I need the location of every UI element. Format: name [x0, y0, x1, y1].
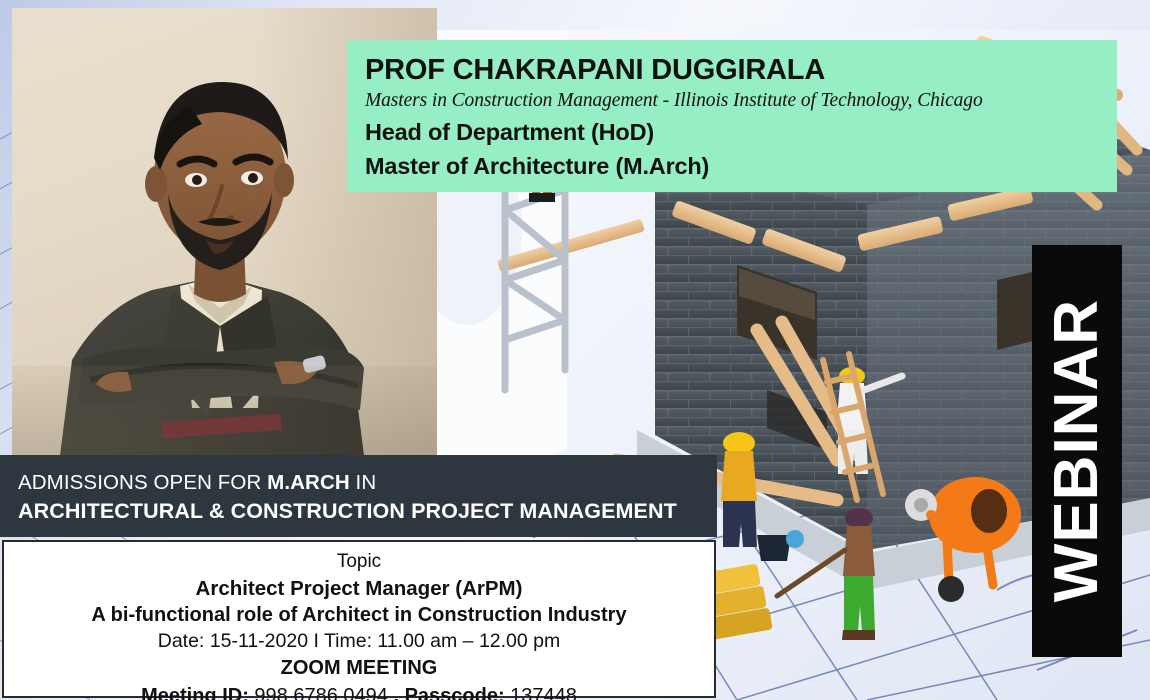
speaker-name: PROF CHAKRAPANI DUGGIRALA	[365, 54, 1117, 86]
speaker-role-hod: Head of Department (HoD)	[365, 117, 1117, 148]
admissions-program-code: M.ARCH	[267, 471, 350, 494]
schedule-line: Date: 15-11-2020 I Time: 11.00 am – 12.0…	[4, 628, 714, 655]
portrait-floor-shading	[12, 366, 437, 456]
speaker-role-march: Master of Architecture (M.Arch)	[365, 151, 1117, 182]
admissions-line-1: ADMISSIONS OPEN FOR M.ARCH IN	[18, 469, 717, 496]
admissions-prefix: ADMISSIONS OPEN FOR	[18, 471, 267, 494]
webinar-side-label: WEBINAR	[1046, 299, 1108, 602]
webinar-poster: PROF CHAKRAPANI DUGGIRALA Masters in Con…	[0, 0, 1150, 700]
webinar-side-banner: WEBINAR	[1032, 245, 1122, 657]
topic-subtitle: A bi-functional role of Architect in Con…	[4, 602, 714, 628]
admissions-program-name: ARCHITECTURAL & CONSTRUCTION PROJECT MAN…	[18, 498, 717, 526]
meeting-credentials: Meeting ID: 998 6786 0494 , Passcode: 13…	[4, 682, 714, 700]
topic-label: Topic	[4, 549, 714, 575]
passcode-label: , Passcode:	[393, 685, 504, 700]
topic-title: Architect Project Manager (ArPM)	[4, 575, 714, 602]
speaker-headline-box: PROF CHAKRAPANI DUGGIRALA Masters in Con…	[347, 40, 1117, 192]
passcode-value: 137448	[505, 685, 577, 700]
admissions-banner: ADMISSIONS OPEN FOR M.ARCH IN ARCHITECTU…	[0, 455, 717, 537]
admissions-suffix: IN	[350, 471, 377, 494]
platform-label: ZOOM MEETING	[4, 655, 714, 682]
meeting-id-value: 998 6786 0494	[249, 685, 394, 700]
speaker-credentials: Masters in Construction Management - Ill…	[365, 88, 1117, 113]
webinar-details-card: Topic Architect Project Manager (ArPM) A…	[2, 540, 716, 698]
meeting-id-label: Meeting ID:	[141, 685, 249, 700]
